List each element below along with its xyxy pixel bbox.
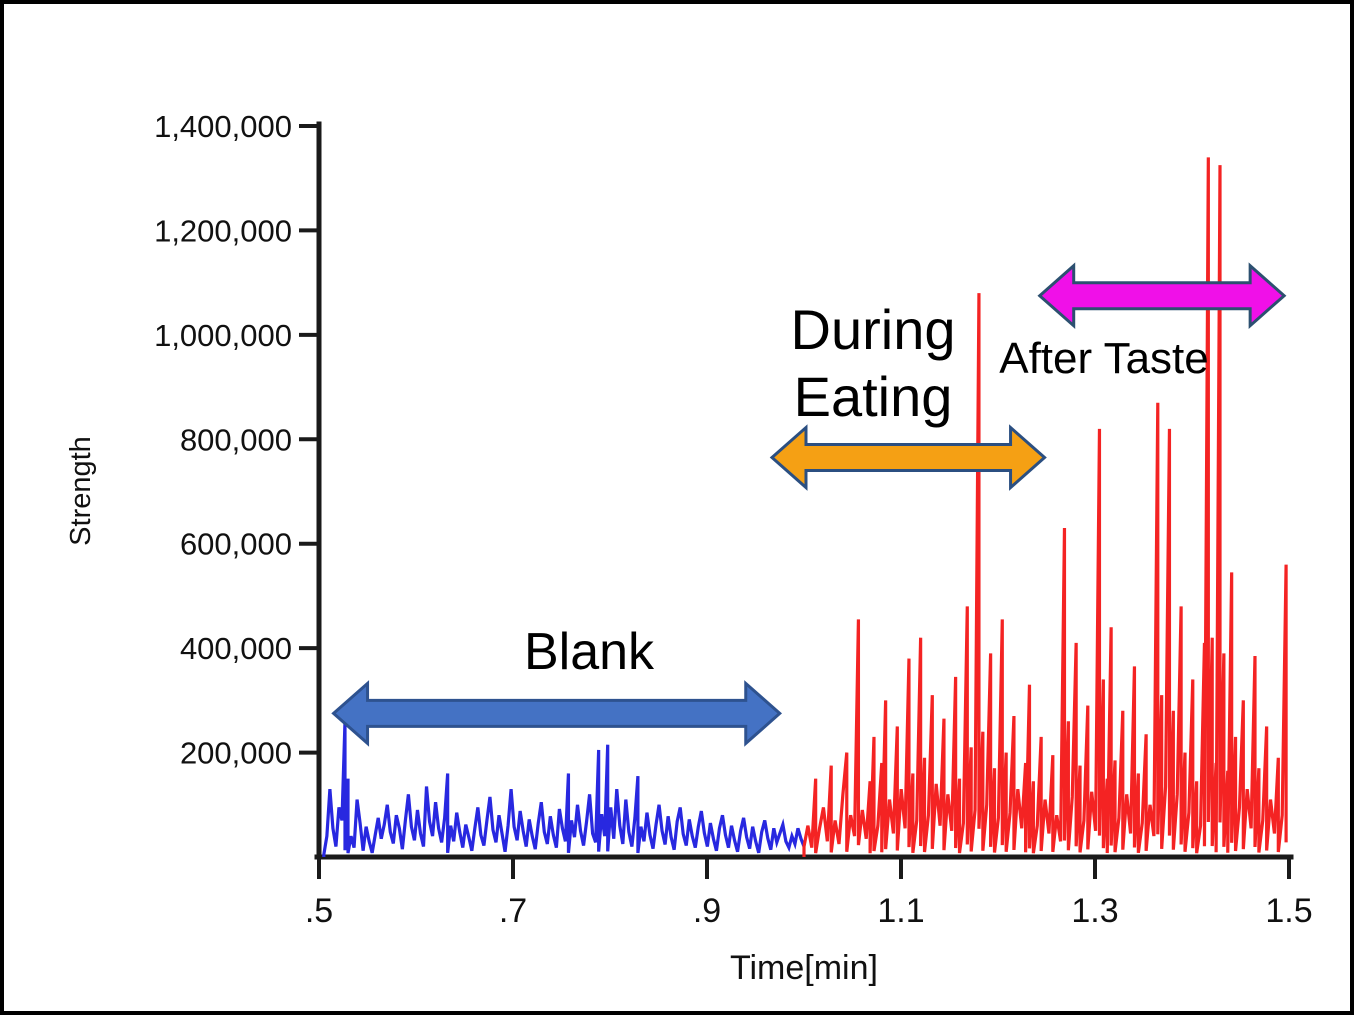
y-tick-group: 200,000400,000600,000800,0001,000,0001,2…: [154, 109, 319, 771]
x-tick-label: .7: [499, 892, 527, 930]
annotation-label-after-taste: After Taste: [999, 334, 1209, 383]
x-tick-label: .9: [693, 892, 721, 930]
x-tick-label: 1.1: [877, 892, 924, 930]
annotation-arrow-blank: [334, 683, 780, 743]
chromatogram-chart: 200,000400,000600,000800,0001,000,0001,2…: [4, 4, 1354, 1015]
chart-figure: 200,000400,000600,000800,0001,000,0001,2…: [0, 0, 1354, 1015]
y-tick-label: 400,000: [180, 631, 292, 666]
x-tick-label: .5: [305, 892, 333, 930]
y-tick-label: 800,000: [180, 422, 292, 457]
x-axis-title: Time[min]: [730, 949, 878, 987]
x-tick-label: 1.5: [1265, 892, 1312, 930]
data-trace-blank: [324, 721, 804, 857]
x-tick-group: .5.7.91.11.31.5: [305, 857, 1313, 930]
data-trace-sample: [804, 157, 1286, 857]
annotation-label-during-eating-line2: Eating: [794, 365, 953, 428]
y-tick-label: 1,200,000: [154, 213, 292, 248]
y-tick-label: 1,400,000: [154, 109, 292, 144]
y-tick-label: 600,000: [180, 527, 292, 562]
annotation-label-during-eating-line1: During: [791, 298, 956, 361]
y-axis-title: Strength: [65, 436, 97, 546]
data-trace-group: [324, 157, 1286, 857]
annotation-arrow-during-eating: [772, 428, 1045, 488]
y-tick-label: 200,000: [180, 736, 292, 771]
annotation-label-blank: Blank: [524, 623, 655, 681]
annotation-arrow-after-taste: [1040, 266, 1284, 326]
x-tick-label: 1.3: [1071, 892, 1118, 930]
y-tick-label: 1,000,000: [154, 318, 292, 353]
